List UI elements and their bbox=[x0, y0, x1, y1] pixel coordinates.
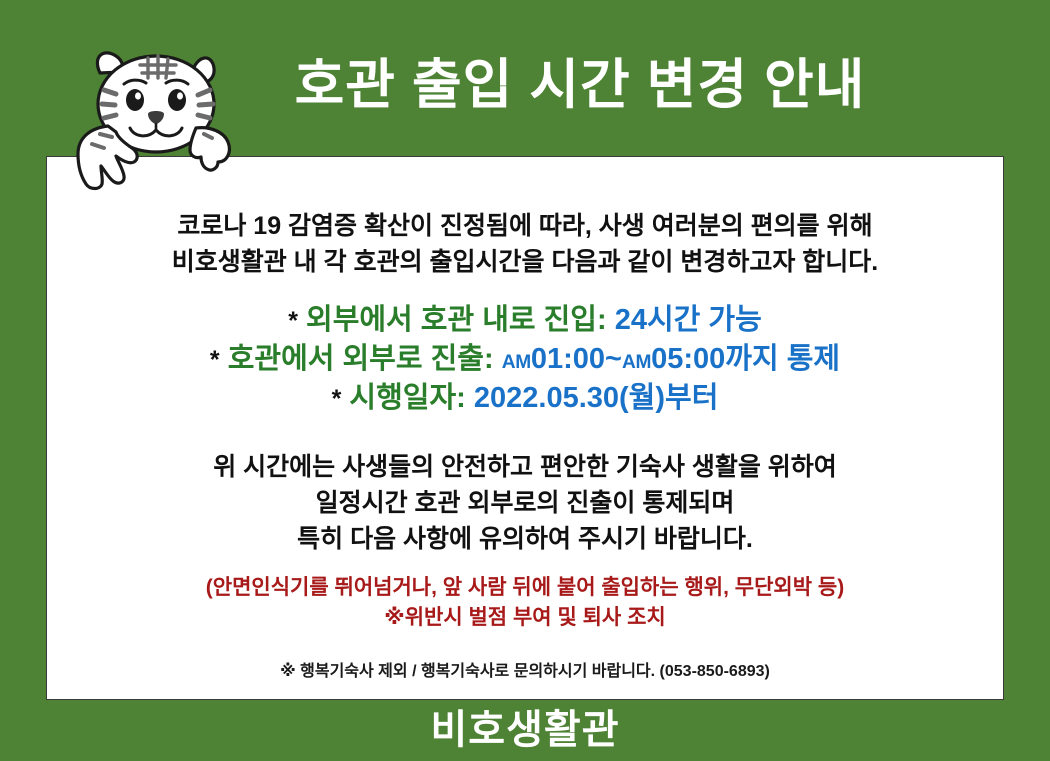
page-title: 호관 출입 시간 변경 안내 bbox=[0, 58, 1050, 112]
organization-footer: 비호생활관 bbox=[0, 702, 1050, 761]
body-line-1: 위 시간에는 사생들의 안전하고 편안한 기숙사 생활을 위하여 bbox=[47, 449, 1003, 485]
highlight-label-effective-date: 시행일자: bbox=[349, 382, 465, 414]
highlight-label-entry: 외부에서 호관 내로 진입: bbox=[306, 304, 607, 336]
warning-line-1: (안면인식기를 뛰어넘거나, 앞 사람 뒤에 붙어 출입하는 행위, 무단외박 … bbox=[47, 573, 1003, 603]
warning-line-2: ※위반시 벌점 부여 및 퇴사 조치 bbox=[47, 603, 1003, 633]
intro-line-2: 비호생활관 내 각 호관의 출입시간을 다음과 같이 변경하고자 합니다. bbox=[47, 245, 1003, 281]
highlight-list: * 외부에서 호관 내로 진입: 24시간 가능 * 호관에서 외부로 진출: … bbox=[47, 301, 1003, 418]
notice-card: 코로나 19 감염증 확산이 진정됨에 따라, 사생 여러분의 편의를 위해 비… bbox=[46, 156, 1004, 700]
highlight-label-exit: 호관에서 외부로 진출: bbox=[228, 343, 494, 375]
time-end: 05:00 bbox=[651, 343, 725, 375]
body-paragraph: 위 시간에는 사생들의 안전하고 편안한 기숙사 생활을 위하여 일정시간 호관… bbox=[47, 449, 1003, 557]
body-line-2: 일정시간 호관 외부로의 진출이 통제되며 bbox=[47, 485, 1003, 521]
time-range-tilde: ~ bbox=[605, 343, 622, 375]
highlight-entry-entry: * 외부에서 호관 내로 진입: 24시간 가능 bbox=[47, 301, 1003, 340]
am-marker-end: AM bbox=[622, 352, 651, 373]
highlight-entry-effective-date: * 시행일자: 2022.05.30(월)부터 bbox=[47, 379, 1003, 418]
time-start: 01:00 bbox=[531, 343, 605, 375]
contact-footnote: ※ 행복기숙사 제외 / 행복기숙사로 문의하시기 바랍니다. (053-850… bbox=[47, 657, 1003, 681]
body-line-3: 특히 다음 사항에 유의하여 주시기 바랍니다. bbox=[47, 521, 1003, 557]
intro-paragraph: 코로나 19 감염증 확산이 진정됨에 따라, 사생 여러분의 편의를 위해 비… bbox=[47, 209, 1003, 280]
highlight-entry-exit: * 호관에서 외부로 진출: AM01:00~AM05:00까지 통제 bbox=[47, 340, 1003, 379]
highlight-value-entry: 24시간 가능 bbox=[615, 304, 762, 336]
intro-line-1: 코로나 19 감염증 확산이 진정됨에 따라, 사생 여러분의 편의를 위해 bbox=[47, 209, 1003, 245]
poster-root: 호관 출입 시간 변경 안내 bbox=[0, 0, 1050, 761]
bullet-star-1: * bbox=[288, 307, 298, 335]
exit-value-suffix: 까지 통제 bbox=[725, 343, 840, 375]
am-marker-start: AM bbox=[502, 352, 531, 373]
highlight-value-effective-date: 2022.05.30(월)부터 bbox=[474, 382, 719, 414]
warning-notice: (안면인식기를 뛰어넘거나, 앞 사람 뒤에 붙어 출입하는 행위, 무단외박 … bbox=[47, 573, 1003, 633]
bullet-star-2: * bbox=[210, 346, 220, 374]
bullet-star-3: * bbox=[332, 385, 342, 413]
